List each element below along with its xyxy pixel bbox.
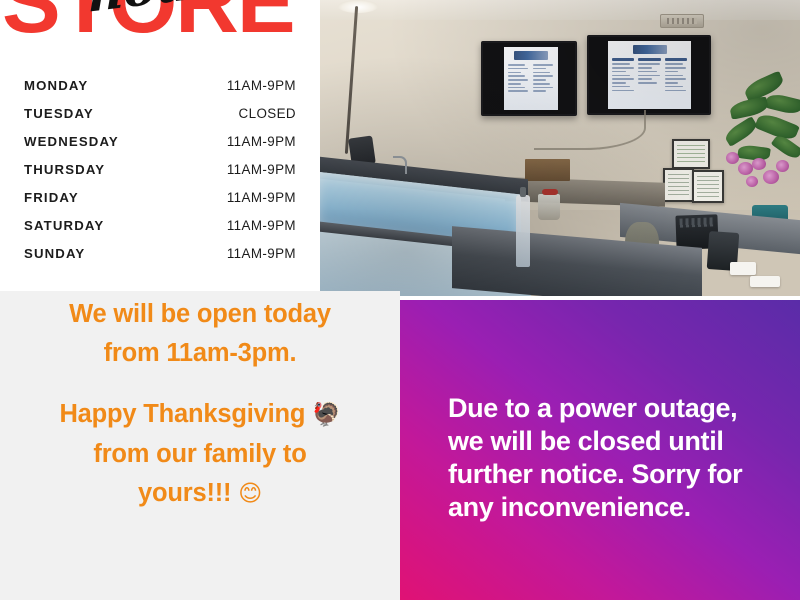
- condiment-jar: [538, 194, 560, 220]
- orchid-flower: [738, 162, 753, 175]
- menu-column: [533, 64, 554, 107]
- hours-row: SUNDAY 11AM-9PM: [24, 246, 296, 274]
- day-label: FRIDAY: [24, 190, 79, 205]
- condiment-jar-lid: [542, 189, 558, 195]
- hours-row: FRIDAY 11AM-9PM: [24, 190, 296, 218]
- menu-column: [665, 58, 687, 106]
- day-time: CLOSED: [239, 106, 296, 121]
- day-time: 11AM-9PM: [227, 134, 296, 149]
- menu-columns: [612, 58, 687, 106]
- day-label: TUESDAY: [24, 106, 94, 121]
- day-label: MONDAY: [24, 78, 88, 93]
- orange-line-5: yours!!!: [138, 479, 231, 507]
- orange-line-3: Happy Thanksgiving: [59, 400, 305, 428]
- menu-screen-left-display: [504, 47, 558, 110]
- wooden-box: [525, 159, 570, 181]
- orchid-flower: [776, 160, 789, 172]
- day-label: SUNDAY: [24, 246, 85, 261]
- menu-screen-left: [481, 41, 577, 116]
- framed-certificate: [663, 168, 694, 202]
- day-time: 11AM-9PM: [227, 162, 296, 177]
- framed-certificate: [692, 170, 724, 203]
- day-time: 11AM-9PM: [227, 246, 296, 261]
- purple-line-2: we will be closed until: [448, 426, 724, 456]
- day-label: WEDNESDAY: [24, 134, 119, 149]
- orange-line-4: from our family to: [93, 440, 306, 468]
- menu-column: [612, 58, 634, 106]
- turkey-icon: 🦃: [312, 402, 340, 428]
- hours-list: MONDAY 11AM-9PM TUESDAY CLOSED WEDNESDAY…: [24, 78, 296, 274]
- framed-certificate: [672, 139, 710, 169]
- restaurant-logo-icon: [633, 45, 667, 54]
- purple-line-4: any inconvenience.: [448, 492, 691, 522]
- menu-columns: [508, 64, 554, 107]
- hours-row: SATURDAY 11AM-9PM: [24, 218, 296, 246]
- thanksgiving-notice-text: We will be open today from 11am-3pm. Hap…: [14, 295, 386, 514]
- hours-row: MONDAY 11AM-9PM: [24, 78, 296, 106]
- smiling-face-icon: 😊: [238, 481, 262, 507]
- purple-line-3: further notice. Sorry for: [448, 459, 742, 489]
- menu-column: [638, 58, 660, 106]
- store-hours-title: STORE hours: [0, 0, 320, 42]
- day-time: 11AM-9PM: [227, 190, 296, 205]
- orchid-flower: [763, 170, 779, 184]
- day-time: 11AM-9PM: [227, 78, 296, 93]
- day-label: THURSDAY: [24, 162, 105, 177]
- hours-row: TUESDAY CLOSED: [24, 106, 296, 134]
- power-outage-notice-panel: Due to a power outage, we will be closed…: [400, 300, 800, 600]
- orange-line-1: We will be open today: [69, 300, 331, 328]
- napkin-stack: [730, 262, 756, 275]
- faucet-icon: [393, 156, 407, 174]
- menu-screen-right-display: [608, 41, 691, 109]
- day-time: 11AM-9PM: [227, 218, 296, 233]
- store-hours-card: STORE hours MONDAY 11AM-9PM TUESDAY CLOS…: [0, 0, 320, 291]
- collage-canvas: STORE hours MONDAY 11AM-9PM TUESDAY CLOS…: [0, 0, 800, 600]
- orchid-flower: [752, 158, 766, 170]
- menu-screen-right: [587, 35, 711, 115]
- thanksgiving-notice-panel: We will be open today from 11am-3pm. Hap…: [0, 291, 400, 600]
- air-vent-icon: [660, 14, 704, 28]
- day-label: SATURDAY: [24, 218, 104, 233]
- hours-row: WEDNESDAY 11AM-9PM: [24, 134, 296, 162]
- restaurant-logo-icon: [514, 51, 548, 60]
- hours-row: THURSDAY 11AM-9PM: [24, 162, 296, 190]
- hand-sanitizer-bottle: [516, 195, 530, 267]
- menu-column: [508, 64, 529, 107]
- napkin-stack: [750, 276, 780, 287]
- orchid-flower: [746, 176, 758, 187]
- purple-line-1: Due to a power outage,: [448, 393, 737, 423]
- power-outage-notice-text: Due to a power outage, we will be closed…: [448, 392, 778, 524]
- spacer: [14, 373, 386, 395]
- orange-line-2: from 11am-3pm.: [104, 339, 297, 367]
- orchid-flower: [726, 152, 739, 164]
- restaurant-interior-photo: [320, 0, 800, 296]
